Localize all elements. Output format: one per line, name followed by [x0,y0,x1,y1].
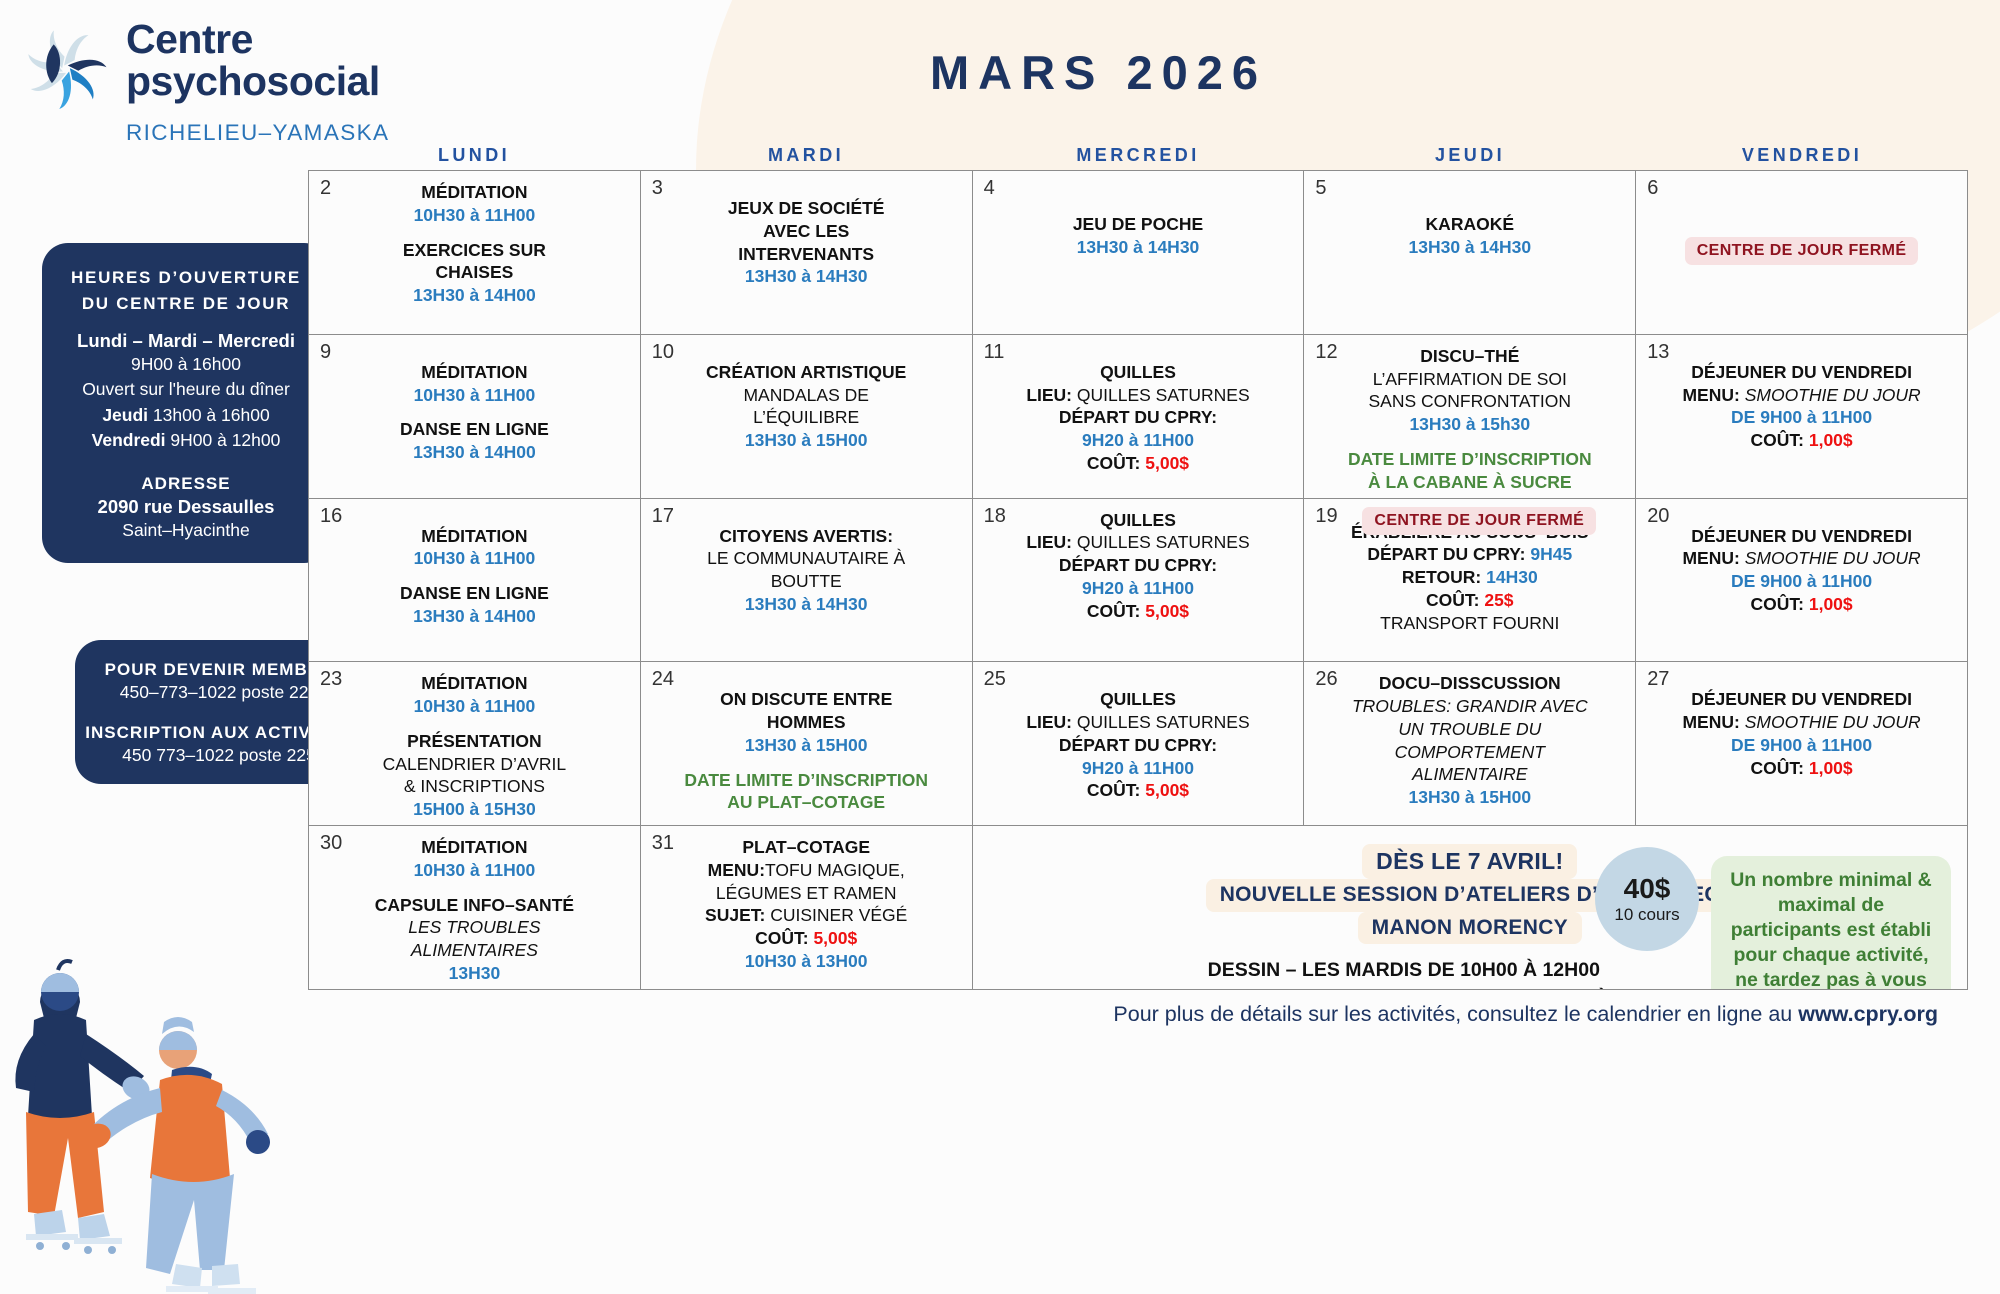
calendar-cell-5[interactable]: 5KARAOKÉ13H30 à 14H30 [1304,171,1636,335]
cell-line: COÛT: 5,00$ [979,452,1298,475]
cell-line: JEU DE POCHE [979,213,1298,236]
address-street: 2090 rue Dessaulles [52,496,320,518]
cell-line: SANS CONFRONTATION [1310,390,1629,413]
cell-line: DATE LIMITE D’INSCRIPTION [1310,448,1629,471]
price-amount: 40$ [1624,873,1671,905]
brand-title-line1: Centre [126,18,380,60]
cell-content: JEUX DE SOCIÉTÉAVEC LESINTERVENANTS13H30… [647,197,966,288]
cell-line: KARAOKÉ [1310,213,1629,236]
cell-line: CRÉATION ARTISTIQUE [647,361,966,384]
promo-line3: MANON MORENCY [1358,912,1582,944]
cell-line: DE 9H00 à 11H00 [1642,734,1961,757]
cell-line: QUILLES [979,361,1298,384]
price-badge: 40$10 cours [1595,847,1699,951]
cell-line: TROUBLES: GRANDIR AVEC [1310,695,1629,718]
spacer [315,227,634,239]
cell-content: MÉDITATION10H30 à 11H00CAPSULE INFO–SANT… [315,836,634,985]
footer-text: Pour plus de détails sur les activités, … [1113,1002,1798,1026]
hours-days-line: Lundi – Mardi – Mercredi [52,330,320,352]
cell-line: COÛT: 5,00$ [647,927,966,950]
price-subtitle: 10 cours [1614,905,1679,925]
calendar-cell-2[interactable]: 2MÉDITATION10H30 à 11H00EXERCICES SURCHA… [309,171,641,335]
calendar-cell-30[interactable]: 30MÉDITATION10H30 à 11H00CAPSULE INFO–SA… [309,826,641,990]
cell-line: UN TROUBLE DU [1310,718,1629,741]
cell-content: CRÉATION ARTISTIQUEMANDALAS DEL’ÉQUILIBR… [647,361,966,452]
day-number: 3 [652,177,663,200]
day-number: 16 [320,505,342,528]
cell-line: DÉJEUNER DU VENDREDI [1642,525,1961,548]
opening-hours-box: HEURES D’OUVERTURE DU CENTRE DE JOUR Lun… [42,243,330,563]
day-number: 23 [320,668,342,691]
cell-line: L’AFFIRMATION DE SOI [1310,368,1629,391]
calendar-cell-20[interactable]: 20DÉJEUNER DU VENDREDIMENU: SMOOTHIE DU … [1636,499,1968,663]
hours-friday-label: Vendredi [92,430,166,450]
cell-line: MÉDITATION [315,361,634,384]
cell-line: QUILLES [979,509,1298,532]
calendar-cell-3[interactable]: 3JEUX DE SOCIÉTÉAVEC LESINTERVENANTS13H3… [641,171,973,335]
day-number: 27 [1647,668,1669,691]
cell-content: DOCU–DISSCUSSIONTROUBLES: GRANDIR AVECUN… [1310,672,1629,809]
cell-line: 13H30 à 14H00 [315,284,634,307]
cell-line: L’ÉQUILIBRE [647,406,966,429]
day-number: 6 [1647,177,1658,200]
day-number: 13 [1647,341,1669,364]
closed-badge: CENTRE DE JOUR FERMÉ [1362,507,1596,535]
cell-line: CAPSULE INFO–SANTÉ [315,894,634,917]
cell-line: 13H30 à 14H30 [979,236,1298,259]
cell-line: DISCU–THÉ [1310,345,1629,368]
brand-subtitle: RICHELIEU–YAMASKA [126,120,389,146]
cell-line: ON DISCUTE ENTRE [647,688,966,711]
weekday-mercredi: MERCREDI [972,145,1304,166]
calendar-cell-23[interactable]: 23MÉDITATION10H30 à 11H00PRÉSENTATIONCAL… [309,662,641,826]
cell-line: JEUX DE SOCIÉTÉ [647,197,966,220]
weekday-jeudi: JEUDI [1304,145,1636,166]
cell-line: ALIMENTAIRES [315,939,634,962]
cell-content: MÉDITATION10H30 à 11H00PRÉSENTATIONCALEN… [315,672,634,821]
day-number: 11 [984,341,1005,364]
weekday-mardi: MARDI [640,145,972,166]
cell-content: DÉJEUNER DU VENDREDIMENU: SMOOTHIE DU JO… [1642,525,1961,616]
hours-heading-line1: HEURES D’OUVERTURE [52,265,320,291]
calendar-cell-12[interactable]: 12DISCU–THÉL’AFFIRMATION DE SOISANS CONF… [1304,335,1636,499]
cell-line: 15H00 à 15H30 [315,798,634,821]
cell-line: 13H30 à 14H30 [1310,236,1629,259]
footer-website[interactable]: www.cpry.org [1798,1002,1938,1026]
calendar-cell-25[interactable]: 25QUILLESLIEU: QUILLES SATURNESDÉPART DU… [973,662,1305,826]
calendar-cell-31[interactable]: 31PLAT–COTAGEMENU:TOFU MAGIQUE,LÉGUMES E… [641,826,973,990]
cell-line: BOUTTE [647,570,966,593]
cell-line: DE 9H00 à 11H00 [1642,570,1961,593]
cell-line: À LA CABANE À SUCRE [1310,471,1629,494]
cell-line: COÛT: 1,00$ [1642,757,1961,780]
cell-line: DANSE EN LIGNE [315,582,634,605]
hours-thursday-time: 13h00 à 16h00 [148,405,270,425]
calendar-cell-26[interactable]: 26DOCU–DISSCUSSIONTROUBLES: GRANDIR AVEC… [1304,662,1636,826]
cell-line: CALENDRIER D’AVRIL [315,753,634,776]
cell-line: DÉJEUNER DU VENDREDI [1642,361,1961,384]
cell-line: DÉPART DU CPRY: [979,554,1298,577]
calendar-cell-17[interactable]: 17CITOYENS AVERTIS:LE COMMUNAUTAIRE ÀBOU… [641,499,973,663]
promo-item-peinture: PEINTURE ACRYLIQUE – LES MARDIS DE 13H30… [997,985,1811,990]
hours-heading-line2: DU CENTRE DE JOUR [52,291,320,317]
day-number: 20 [1647,505,1669,528]
cell-line: 10H30 à 11H00 [315,204,634,227]
promo-wrap: DÈS LE 7 AVRIL!NOUVELLE SESSION D’ATELIE… [979,834,1961,985]
cell-content: QUILLESLIEU: QUILLES SATURNESDÉPART DU C… [979,509,1298,623]
page-title: MARS 2026 [930,45,1267,100]
closed-badge: CENTRE DE JOUR FERMÉ [1685,237,1919,265]
footer-note: Pour plus de détails sur les activités, … [0,1002,1968,1027]
calendar-cell-10[interactable]: 10CRÉATION ARTISTIQUEMANDALAS DEL’ÉQUILI… [641,335,973,499]
skaters-illustration [0,874,330,1294]
cell-line: 10H30 à 11H00 [315,384,634,407]
cell-line: PRÉSENTATION [315,730,634,753]
calendar-cell-13[interactable]: 13DÉJEUNER DU VENDREDIMENU: SMOOTHIE DU … [1636,335,1968,499]
cell-content: KARAOKÉ13H30 à 14H30 [1310,213,1629,259]
day-number: 31 [652,832,674,855]
cell-line: COÛT: 5,00$ [979,600,1298,623]
cell-line: 13H30 à 14H00 [315,441,634,464]
cell-content: DÉJEUNER DU VENDREDIMENU: SMOOTHIE DU JO… [1642,361,1961,452]
cell-content: JEU DE POCHE13H30 à 14H30 [979,213,1298,259]
hours-friday-time: 9H00 à 12h00 [166,430,281,450]
cell-line: DÉPART DU CPRY: [979,734,1298,757]
cell-line: CITOYENS AVERTIS: [647,525,966,548]
day-number: 10 [652,341,674,364]
swirl-petals-logo-icon [22,24,110,114]
cell-line: COÛT: 1,00$ [1642,593,1961,616]
cell-content: MÉDITATION10H30 à 11H00DANSE EN LIGNE13H… [315,525,634,628]
cell-line: 13H30 à 14H30 [647,265,966,288]
calendar-page: Centre psychosocial RICHELIEU–YAMASKA MA… [0,0,2000,1294]
weekday-header-row: LUNDI MARDI MERCREDI JEUDI VENDREDI [308,145,1968,166]
hours-lunch-note: Ouvert sur l'heure du dîner [52,377,320,402]
cell-line: 13H30 à 15H00 [647,734,966,757]
calendar-cell-11[interactable]: 11QUILLESLIEU: QUILLES SATURNESDÉPART DU… [973,335,1305,499]
cell-line: & INSCRIPTIONS [315,775,634,798]
cell-line: COÛT: 25$ [1310,589,1629,612]
day-number: 19 [1315,505,1337,528]
cell-line: COÛT: 5,00$ [979,779,1298,802]
promo-cell: DÈS LE 7 AVRIL!NOUVELLE SESSION D’ATELIE… [973,826,1968,990]
cell-line: RETOUR: 14H30 [1310,566,1629,589]
spacer [647,973,966,985]
spacer [647,757,966,769]
cell-content: MÉDITATION10H30 à 11H00DANSE EN LIGNE13H… [315,361,634,464]
cell-line: TRANSPORT FOURNI [1310,612,1629,635]
day-number: 18 [984,505,1006,528]
cell-line: QUILLES [979,688,1298,711]
day-number: 4 [984,177,995,200]
cell-line: ANNIVERSAIRES DU MOIS [647,985,966,990]
cell-line: LÉGUMES ET RAMEN [647,882,966,905]
address-heading: ADRESSE [52,474,320,494]
cell-line: LIEU: QUILLES SATURNES [979,531,1298,554]
day-number: 2 [320,177,331,200]
day-number: 26 [1315,668,1337,691]
calendar-cell-9[interactable]: 9MÉDITATION10H30 à 11H00DANSE EN LIGNE13… [309,335,641,499]
cell-line: MENU: SMOOTHIE DU JOUR [1642,711,1961,734]
cell-content: DISCU–THÉL’AFFIRMATION DE SOISANS CONFRO… [1310,345,1629,494]
day-number: 30 [320,832,342,855]
cell-line: DATE LIMITE D’INSCRIPTION [647,769,966,792]
cell-line: 10H30 à 13H00 [647,950,966,973]
brand-block: Centre psychosocial RICHELIEU–YAMASKA [22,18,389,146]
cell-line: MÉDITATION [315,181,634,204]
day-number: 12 [1315,341,1337,364]
hours-days-time: 9H00 à 16h00 [52,352,320,377]
day-number: 25 [984,668,1006,691]
promo-item-dessin: DESSIN – LES MARDIS DE 10H00 À 12H00 [997,956,1811,985]
cell-line: MÉDITATION [315,836,634,859]
participant-limit-note: Un nombre minimal & maximal de participa… [1711,856,1951,990]
cell-line: DÉPART DU CPRY: [979,406,1298,429]
cell-line: 9H20 à 11H00 [979,757,1298,780]
cell-line: DANSE EN LIGNE [315,418,634,441]
day-number: 17 [652,505,674,528]
cell-line: MÉDITATION [315,672,634,695]
hours-thursday-row: Jeudi 13h00 à 16h00 [52,403,320,428]
spacer [1310,436,1629,448]
spacer [315,570,634,582]
cell-line: LE COMMUNAUTAIRE À [647,547,966,570]
cell-line: 13H30 à 15h30 [1310,413,1629,436]
cell-line: 13H30 à 14H30 [647,593,966,616]
day-number: 5 [1315,177,1326,200]
cell-line: SUJET: CUISINER VÉGÉ [647,904,966,927]
address-city: Saint–Hyacinthe [52,518,320,543]
calendar-cell-6[interactable]: 6CENTRE DE JOUR FERMÉ [1636,171,1968,335]
cell-line: COMPORTEMENT [1310,741,1629,764]
cell-content: QUILLESLIEU: QUILLES SATURNESDÉPART DU C… [979,688,1298,802]
spacer [315,882,634,894]
weekday-vendredi: VENDREDI [1636,145,1968,166]
cell-line: CHAISES [315,261,634,284]
cell-content: PLAT–COTAGEMENU:TOFU MAGIQUE,LÉGUMES ET … [647,836,966,990]
calendar-cell-4[interactable]: 4JEU DE POCHE13H30 à 14H30 [973,171,1305,335]
hours-thursday-label: Jeudi [102,405,148,425]
calendar-cell-19[interactable]: 19CENTRE DE JOUR FERMÉÉRABLIÈRE AU SOUS–… [1304,499,1636,663]
cell-line: 9H20 à 11H00 [979,577,1298,600]
cell-line: DE 9H00 à 11H00 [1642,406,1961,429]
cell-line: DOCU–DISSCUSSION [1310,672,1629,695]
calendar-cell-24[interactable]: 24ON DISCUTE ENTREHOMMES13H30 à 15H00DAT… [641,662,973,826]
brand-title-line2: psychosocial [126,60,380,102]
calendar-cell-18[interactable]: 18QUILLESLIEU: QUILLES SATURNESDÉPART DU… [973,499,1305,663]
promo-headline: DÈS LE 7 AVRIL! [1362,844,1577,879]
weekday-lundi: LUNDI [308,145,640,166]
cell-line: 9H20 à 11H00 [979,429,1298,452]
cell-line: 13H30 à 15H00 [1310,786,1629,809]
cell-line: 10H30 à 11H00 [315,547,634,570]
cell-line: MENU:TOFU MAGIQUE, [647,859,966,882]
closed-badge-holder: CENTRE DE JOUR FERMÉ [1642,237,1961,265]
cell-line: MÉDITATION [315,525,634,548]
calendar-cell-16[interactable]: 16MÉDITATION10H30 à 11H00DANSE EN LIGNE1… [309,499,641,663]
cell-content: QUILLESLIEU: QUILLES SATURNESDÉPART DU C… [979,361,1298,475]
cell-line: EXERCICES SUR [315,239,634,262]
cell-line: AVEC LES [647,220,966,243]
cell-line: MENU: SMOOTHIE DU JOUR [1642,384,1961,407]
day-number: 9 [320,341,331,364]
cell-line: 13H30 à 15H00 [647,429,966,452]
cell-line: INTERVENANTS [647,243,966,266]
cell-line: HOMMES [647,711,966,734]
cell-line: DÉPART DU CPRY: 9H45 [1310,543,1629,566]
cell-line: DÉJEUNER DU VENDREDI [1642,688,1961,711]
cell-content: DÉJEUNER DU VENDREDIMENU: SMOOTHIE DU JO… [1642,688,1961,779]
cell-line: LES TROUBLES [315,916,634,939]
hours-friday-row: Vendredi 9H00 à 12h00 [52,428,320,453]
calendar-grid: 2MÉDITATION10H30 à 11H00EXERCICES SURCHA… [308,170,1968,990]
calendar-cell-27[interactable]: 27DÉJEUNER DU VENDREDIMENU: SMOOTHIE DU … [1636,662,1968,826]
cell-content: CITOYENS AVERTIS:LE COMMUNAUTAIRE ÀBOUTT… [647,525,966,616]
cell-line: MANDALAS DE [647,384,966,407]
cell-line: LIEU: QUILLES SATURNES [979,384,1298,407]
spacer [315,718,634,730]
spacer [315,406,634,418]
cell-line: PLAT–COTAGE [647,836,966,859]
cell-line: 10H30 à 11H00 [315,695,634,718]
cell-line: LIEU: QUILLES SATURNES [979,711,1298,734]
cell-line: ALIMENTAIRE [1310,763,1629,786]
cell-content: MÉDITATION10H30 à 11H00EXERCICES SURCHAI… [315,181,634,307]
cell-line: 10H30 à 11H00 [315,859,634,882]
cell-line: COÛT: 1,00$ [1642,429,1961,452]
cell-line: 13H30 à 14H00 [315,605,634,628]
cell-line: AU PLAT–COTAGE [647,791,966,814]
cell-content: ON DISCUTE ENTREHOMMES13H30 à 15H00DATE … [647,688,966,814]
day-number: 24 [652,668,674,691]
cell-line: MENU: SMOOTHIE DU JOUR [1642,547,1961,570]
cell-line: 13H30 [315,962,634,985]
